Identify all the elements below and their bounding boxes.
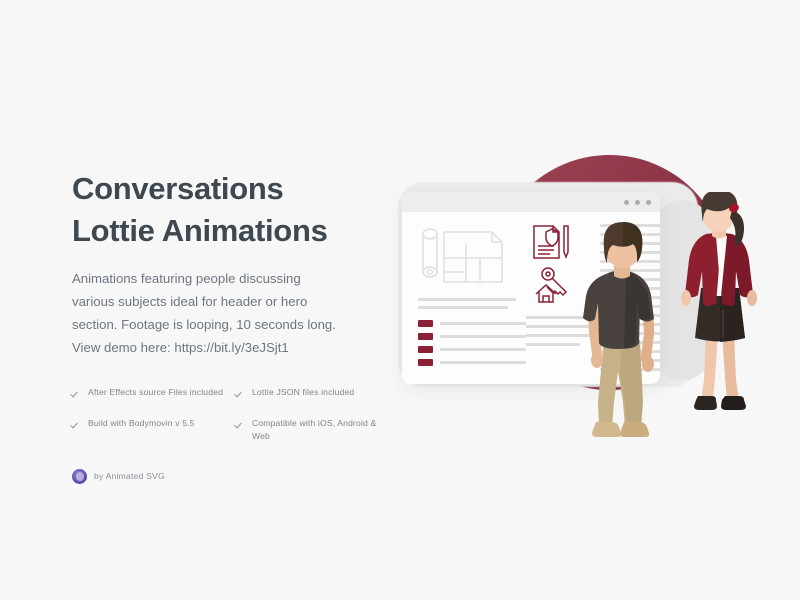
- page-title: Conversations Lottie Animations: [72, 168, 392, 252]
- feature-label: After Effects source Files included: [88, 386, 223, 399]
- browser-titlebar: [402, 192, 660, 212]
- bullet-item: [418, 333, 526, 340]
- description-line-3: section. Footage is looping, 10 seconds …: [72, 314, 342, 337]
- feature-list: After Effects source Files included Lott…: [72, 386, 392, 443]
- description-line-4-demo-link[interactable]: View demo here: https://bit.ly/3eJSjt1: [72, 337, 342, 360]
- bullet-square-icon: [418, 320, 433, 327]
- bullet-item: [418, 359, 526, 366]
- window-dot-icon: [635, 200, 640, 205]
- poster-canvas: Conversations Lottie Animations Animatio…: [0, 0, 800, 600]
- hero-illustration: [380, 130, 790, 460]
- check-icon: [72, 419, 81, 428]
- page-title-line-1: Conversations: [72, 168, 392, 210]
- bullet-list: [418, 320, 526, 372]
- feature-label: Build with Bodymovin v 5.5: [88, 417, 195, 430]
- woman-figure: [672, 192, 767, 417]
- hero-description: Animations featuring people discussing v…: [72, 268, 342, 360]
- feature-item: Compatible with iOS, Android & Web: [236, 417, 386, 443]
- blueprint-roll-icon: [418, 224, 514, 288]
- content-icons: [530, 222, 572, 308]
- check-icon: [72, 388, 81, 397]
- byline[interactable]: by Animated SVG: [72, 469, 392, 484]
- man-figure: [576, 222, 671, 440]
- feature-item: Build with Bodymovin v 5.5: [72, 417, 232, 443]
- bullet-square-icon: [418, 346, 433, 353]
- description-line-2: various subjects ideal for header or her…: [72, 291, 342, 314]
- byline-text: by Animated SVG: [94, 471, 165, 481]
- check-icon: [236, 388, 245, 397]
- feature-label: Compatible with iOS, Android & Web: [252, 417, 386, 443]
- feature-item: After Effects source Files included: [72, 386, 232, 399]
- bullet-square-icon: [418, 359, 433, 366]
- feature-item: Lottie JSON files included: [236, 386, 386, 399]
- bullet-item: [418, 346, 526, 353]
- text-lines-left: [418, 298, 516, 314]
- author-avatar-icon: [72, 469, 87, 484]
- feature-label: Lottie JSON files included: [252, 386, 354, 399]
- window-dot-icon: [624, 200, 629, 205]
- bullet-item: [418, 320, 526, 327]
- description-line-1: Animations featuring people discussing: [72, 268, 342, 291]
- window-dot-icon: [646, 200, 651, 205]
- page-title-line-2: Lottie Animations: [72, 210, 392, 252]
- bullet-square-icon: [418, 333, 433, 340]
- check-icon: [236, 419, 245, 428]
- house-keys-icon: [536, 268, 566, 302]
- document-pen-icon: [534, 226, 568, 258]
- hero-copy: Conversations Lottie Animations Animatio…: [72, 168, 392, 484]
